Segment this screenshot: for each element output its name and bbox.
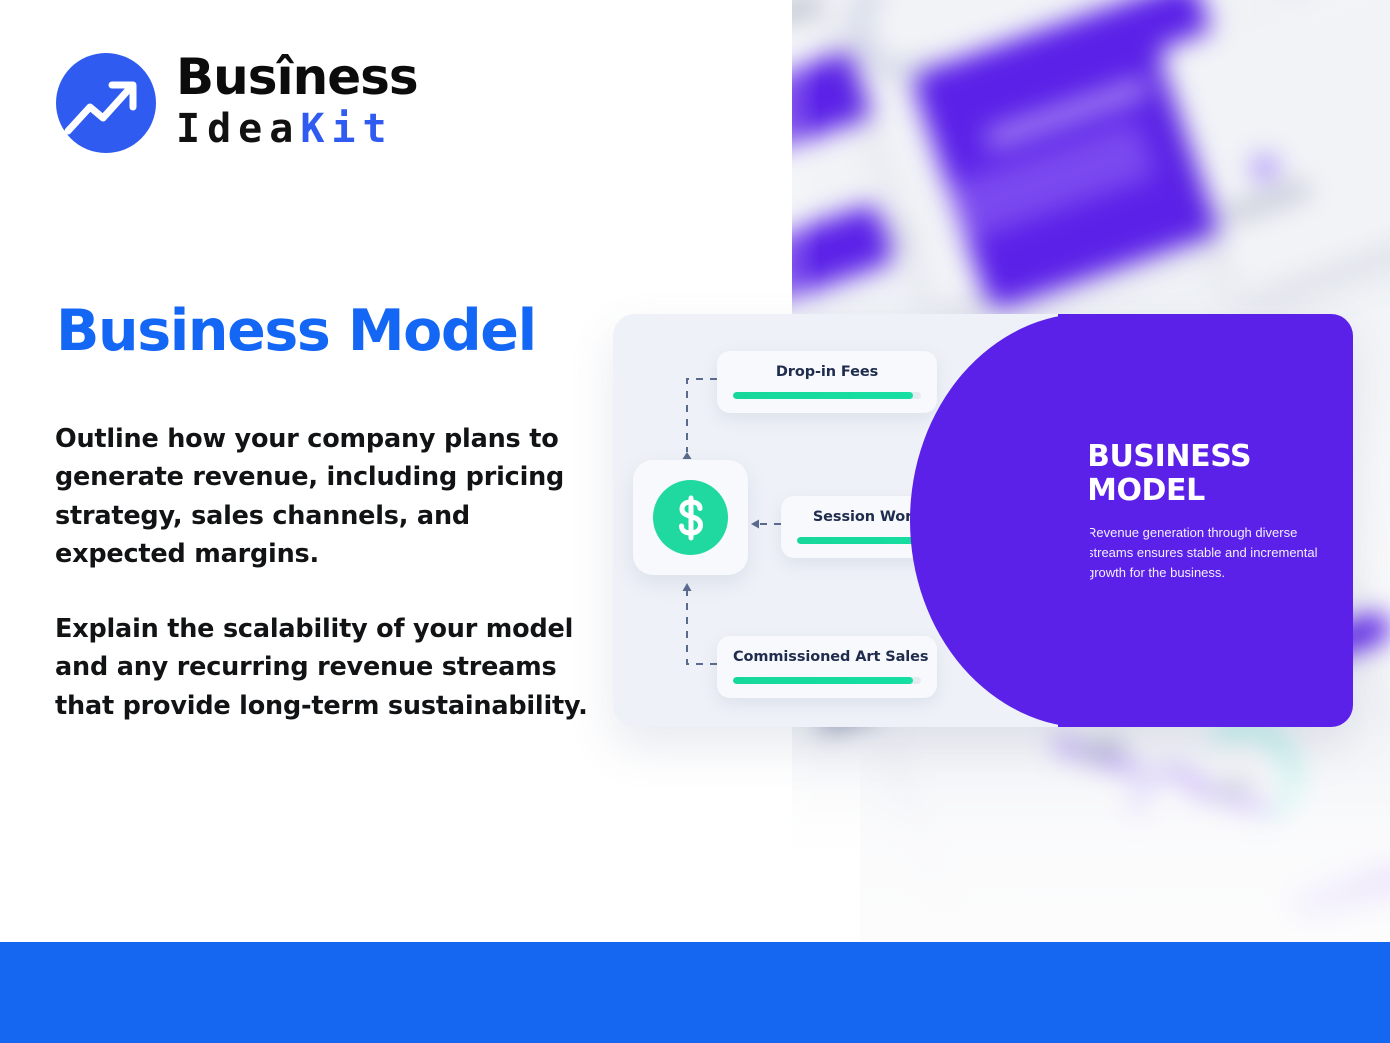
footer-bar (0, 942, 1390, 1043)
bg-dot-shape (1252, 155, 1278, 181)
bottom-white-fade (0, 740, 860, 942)
background-fade-overlay (792, 712, 1390, 942)
slide-canvas: Busîness IdeaKit Business Model Outline … (0, 0, 1390, 1043)
stream-node-drop-in-fees[interactable]: Drop-in Fees (717, 351, 937, 413)
stream-label: Commissioned Art Sales (733, 649, 921, 665)
brand-logo: Busîness IdeaKit (56, 52, 418, 154)
bg-slide-shape (1157, 0, 1390, 295)
brand-name-line2: IdeaKit (176, 104, 418, 154)
body-paragraph-2: Explain the scalability of your model an… (55, 610, 595, 725)
brand-name-idea: Idea (176, 106, 300, 152)
purple-panel-title: BUSINESS MODEL (1087, 440, 1331, 507)
purple-summary-panel: BUSINESS MODEL Revenue generation throug… (1058, 314, 1353, 727)
stream-progress-track (733, 392, 921, 399)
body-paragraph-1: Outline how your company plans to genera… (55, 420, 595, 573)
stream-progress-fill (733, 392, 913, 399)
stream-progress-track (733, 677, 921, 684)
trend-up-arrow-icon (56, 53, 156, 153)
purple-panel-description: Revenue generation through diverse strea… (1087, 523, 1331, 583)
brand-name-kit: Kit (300, 106, 393, 152)
revenue-hub (633, 460, 748, 575)
page-title: Business Model (56, 298, 536, 364)
stream-label: Drop-in Fees (733, 364, 921, 380)
dollar-sign-icon (653, 480, 728, 555)
brand-name-line1-text: Busîness (176, 48, 418, 106)
brand-name-line1: Busîness (176, 52, 418, 102)
stream-progress-fill (733, 677, 913, 684)
brand-wordmark: Busîness IdeaKit (176, 52, 418, 154)
purple-panel-content: BUSINESS MODEL Revenue generation throug… (1087, 440, 1331, 584)
stream-node-commissioned-art-sales[interactable]: Commissioned Art Sales (717, 636, 937, 698)
business-model-card: Drop-in Fees Session Workshops Commissio… (613, 314, 1353, 727)
